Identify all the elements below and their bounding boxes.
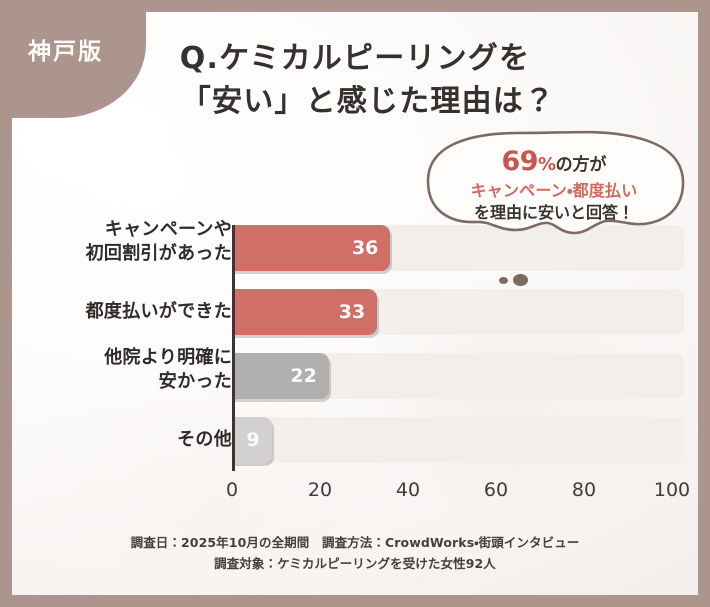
chart-row-label-line-1: キャンペーンや	[22, 218, 232, 242]
chart-bar-track	[232, 417, 684, 463]
callout-tail-dot-large	[513, 274, 528, 286]
callout-percent-value: 69%	[501, 146, 555, 177]
chart-bar-value: 22	[290, 353, 316, 399]
callout-tail-dot-small	[499, 277, 508, 284]
chart-row-label: キャンペーンや 初回割引があった	[22, 218, 232, 266]
callout-line-1-rest: の方が	[556, 155, 607, 175]
chart-row-label-line-1: その他	[22, 428, 232, 452]
chart-x-tick-label: 80	[572, 479, 596, 501]
chart-row: 都度払いができた 33	[12, 289, 698, 337]
callout-bubble: 69%の方が キャンペーン・都度払い を理由に安いと回答！	[418, 129, 690, 251]
chart-bar: 9	[232, 417, 272, 463]
callout-line-3: を理由に安いと回答！	[418, 202, 690, 224]
callout-line-2: キャンペーン・都度払い	[418, 179, 690, 202]
chart-bar: 36	[232, 225, 390, 271]
chart-bar: 22	[232, 353, 329, 399]
chart-row-label: 都度払いができた	[22, 300, 232, 324]
chart-y-axis-line	[232, 225, 235, 471]
chart-x-tick-label: 20	[308, 479, 332, 501]
callout-text: 69%の方が キャンペーン・都度払い を理由に安いと回答！	[418, 145, 690, 224]
poster-root: 神戸版 Q.ケミカルピーリングを 「安い」と感じた理由は？ 69%の方が キャン…	[0, 0, 710, 607]
chart-row-label-line-1: 他院より明確に	[22, 346, 232, 370]
callout-line-1: 69%の方が	[418, 145, 690, 179]
chart-x-axis-ticks: 020406080100	[12, 479, 698, 509]
callout-percent-symbol: %	[538, 154, 556, 175]
chart-bar-value: 33	[339, 289, 365, 335]
bar-chart: キャンペーンや 初回割引があった 36 都度払いができた 33	[12, 217, 698, 517]
chart-x-tick-label: 100	[654, 479, 690, 501]
chart-bar-value: 9	[246, 417, 259, 463]
chart-row-label-line-2: 安かった	[22, 370, 232, 394]
poster-canvas: 神戸版 Q.ケミカルピーリングを 「安い」と感じた理由は？ 69%の方が キャン…	[12, 12, 698, 595]
chart-row-label: 他院より明確に 安かった	[22, 346, 232, 394]
chart-x-tick-label: 0	[226, 479, 238, 501]
chart-row-label-line-2: 初回割引があった	[22, 242, 232, 266]
chart-bar-value: 36	[352, 225, 378, 271]
chart-bar: 33	[232, 289, 377, 335]
survey-footnote-line-2: 調査対象：ケミカルピーリングを受けた女性92人	[12, 554, 698, 575]
survey-footnote-line-1: 調査日：2025年10月の全期間 調査方法：CrowdWorks・街頭インタビュ…	[12, 533, 698, 554]
chart-row-label: その他	[22, 428, 232, 452]
chart-x-tick-label: 60	[484, 479, 508, 501]
chart-x-tick-label: 40	[396, 479, 420, 501]
region-badge-label: 神戸版	[28, 32, 103, 66]
chart-row: その他 9	[12, 417, 698, 465]
survey-footnote: 調査日：2025年10月の全期間 調査方法：CrowdWorks・街頭インタビュ…	[12, 533, 698, 574]
chart-row: 他院より明確に 安かった 22	[12, 353, 698, 401]
chart-row-label-line-1: 都度払いができた	[22, 300, 232, 324]
